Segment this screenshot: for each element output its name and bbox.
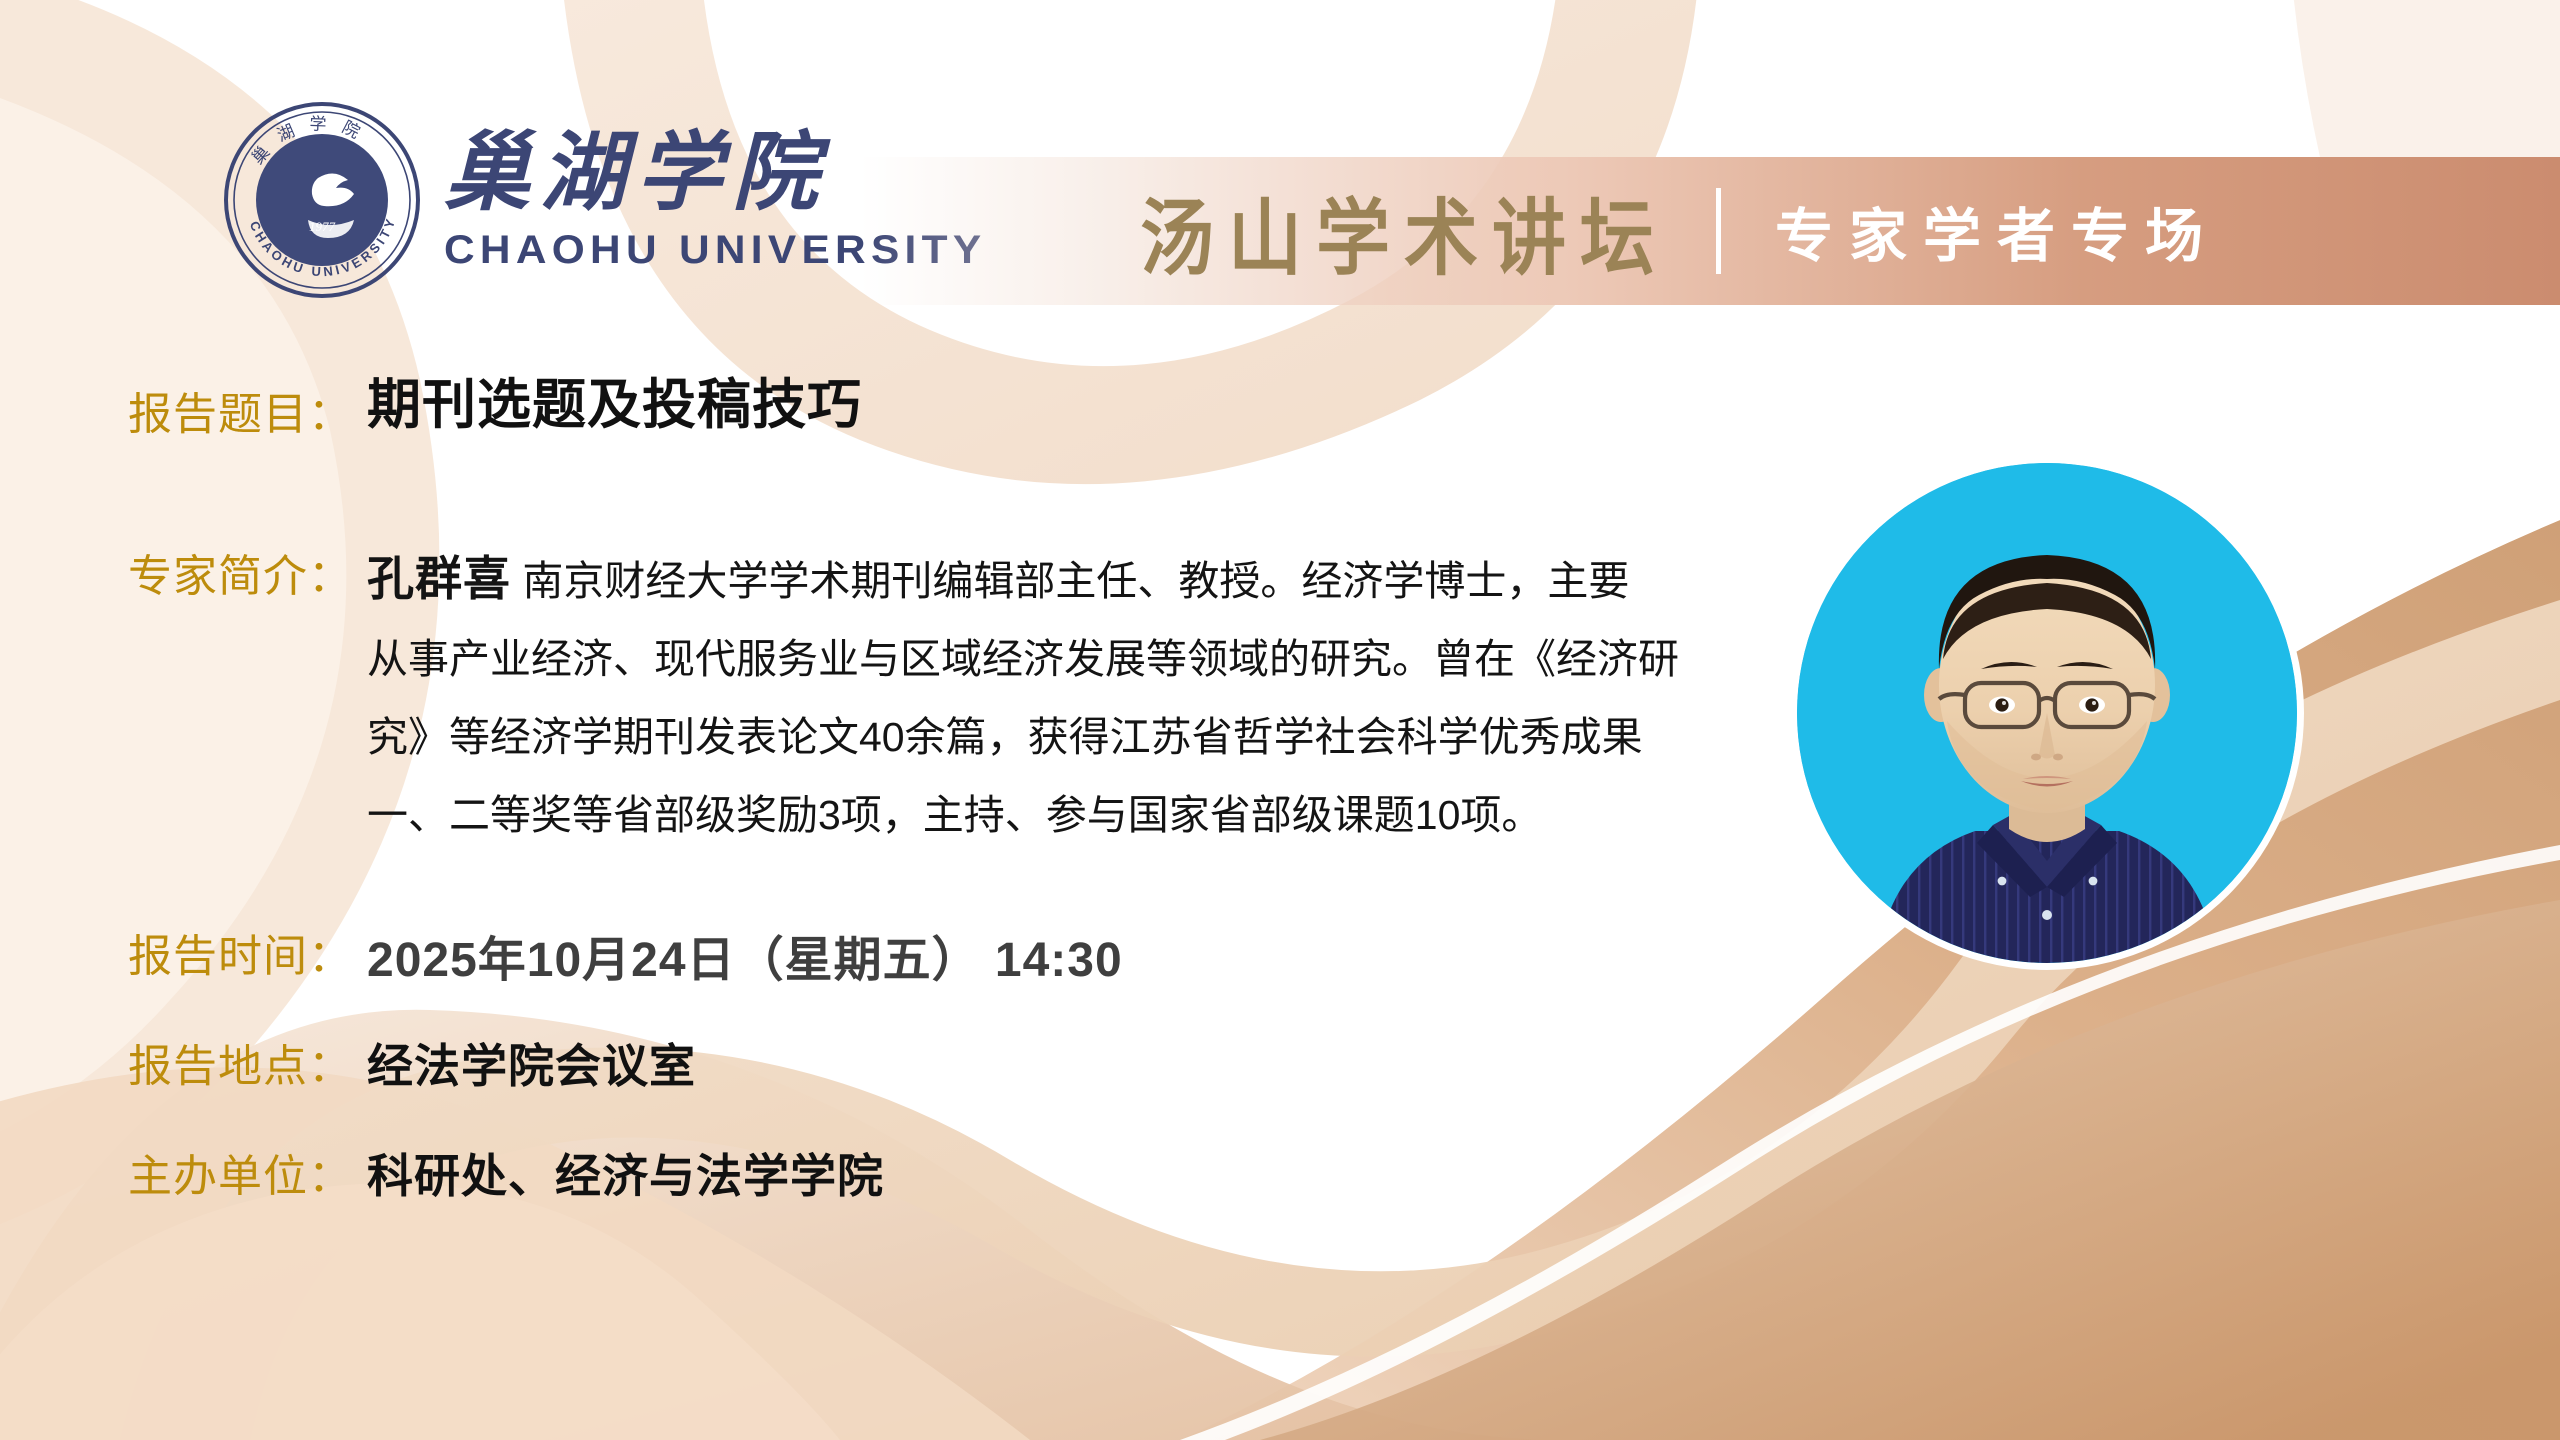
speaker-bio-body: 孔群喜 南京财经大学学术期刊编辑部主任、教授。经济学博士，主要 从事产业经济、现…	[367, 540, 1797, 854]
report-title-row: 报告题目： 期刊选题及投稿技巧	[128, 378, 862, 442]
bio-line: 一、二等奖等省部级奖励3项，主持、参与国家省部级课题10项。	[367, 776, 1797, 854]
report-place-value: 经法学院会议室	[367, 1030, 696, 1096]
poster-root: 1977 巢湖学院 CHAOHU UNIVERSITY 巢湖学院 CHAOHU …	[0, 0, 2560, 1440]
bio-line: 孔群喜 南京财经大学学术期刊编辑部主任、教授。经济学博士，主要	[367, 540, 1797, 620]
report-title-value: 期刊选题及投稿技巧	[367, 378, 862, 432]
speaker-portrait-image	[1797, 463, 2297, 963]
speaker-bio-row: 专家简介： 孔群喜 南京财经大学学术期刊编辑部主任、教授。经济学博士，主要 从事…	[128, 540, 1828, 854]
organizer-label: 主办单位：	[128, 1140, 353, 1204]
report-title-label: 报告题目：	[128, 378, 353, 442]
report-time-row: 报告时间： 2025年10月24日（星期五） 14:30	[128, 920, 1123, 990]
speaker-name: 孔群喜	[367, 552, 511, 605]
organizer-row: 主办单位： 科研处、经济与法学学院	[128, 1140, 884, 1206]
report-place-row: 报告地点： 经法学院会议室	[128, 1030, 696, 1096]
bio-line: 究》等经济学期刊发表论文40余篇，获得江苏省哲学社会科学优秀成果	[367, 698, 1797, 776]
speaker-portrait	[1797, 463, 2297, 963]
bio-line-text: 南京财经大学学术期刊编辑部主任、教授。经济学博士，主要	[511, 558, 1629, 604]
organizer-value: 科研处、经济与法学学院	[367, 1140, 884, 1206]
speaker-bio-label: 专家简介：	[128, 540, 353, 604]
report-time-value: 2025年10月24日（星期五） 14:30	[367, 920, 1123, 990]
bio-line: 从事产业经济、现代服务业与区域经济发展等领域的研究。曾在《经济研	[367, 620, 1797, 698]
report-place-label: 报告地点：	[128, 1030, 353, 1094]
report-time-label: 报告时间：	[128, 920, 353, 984]
